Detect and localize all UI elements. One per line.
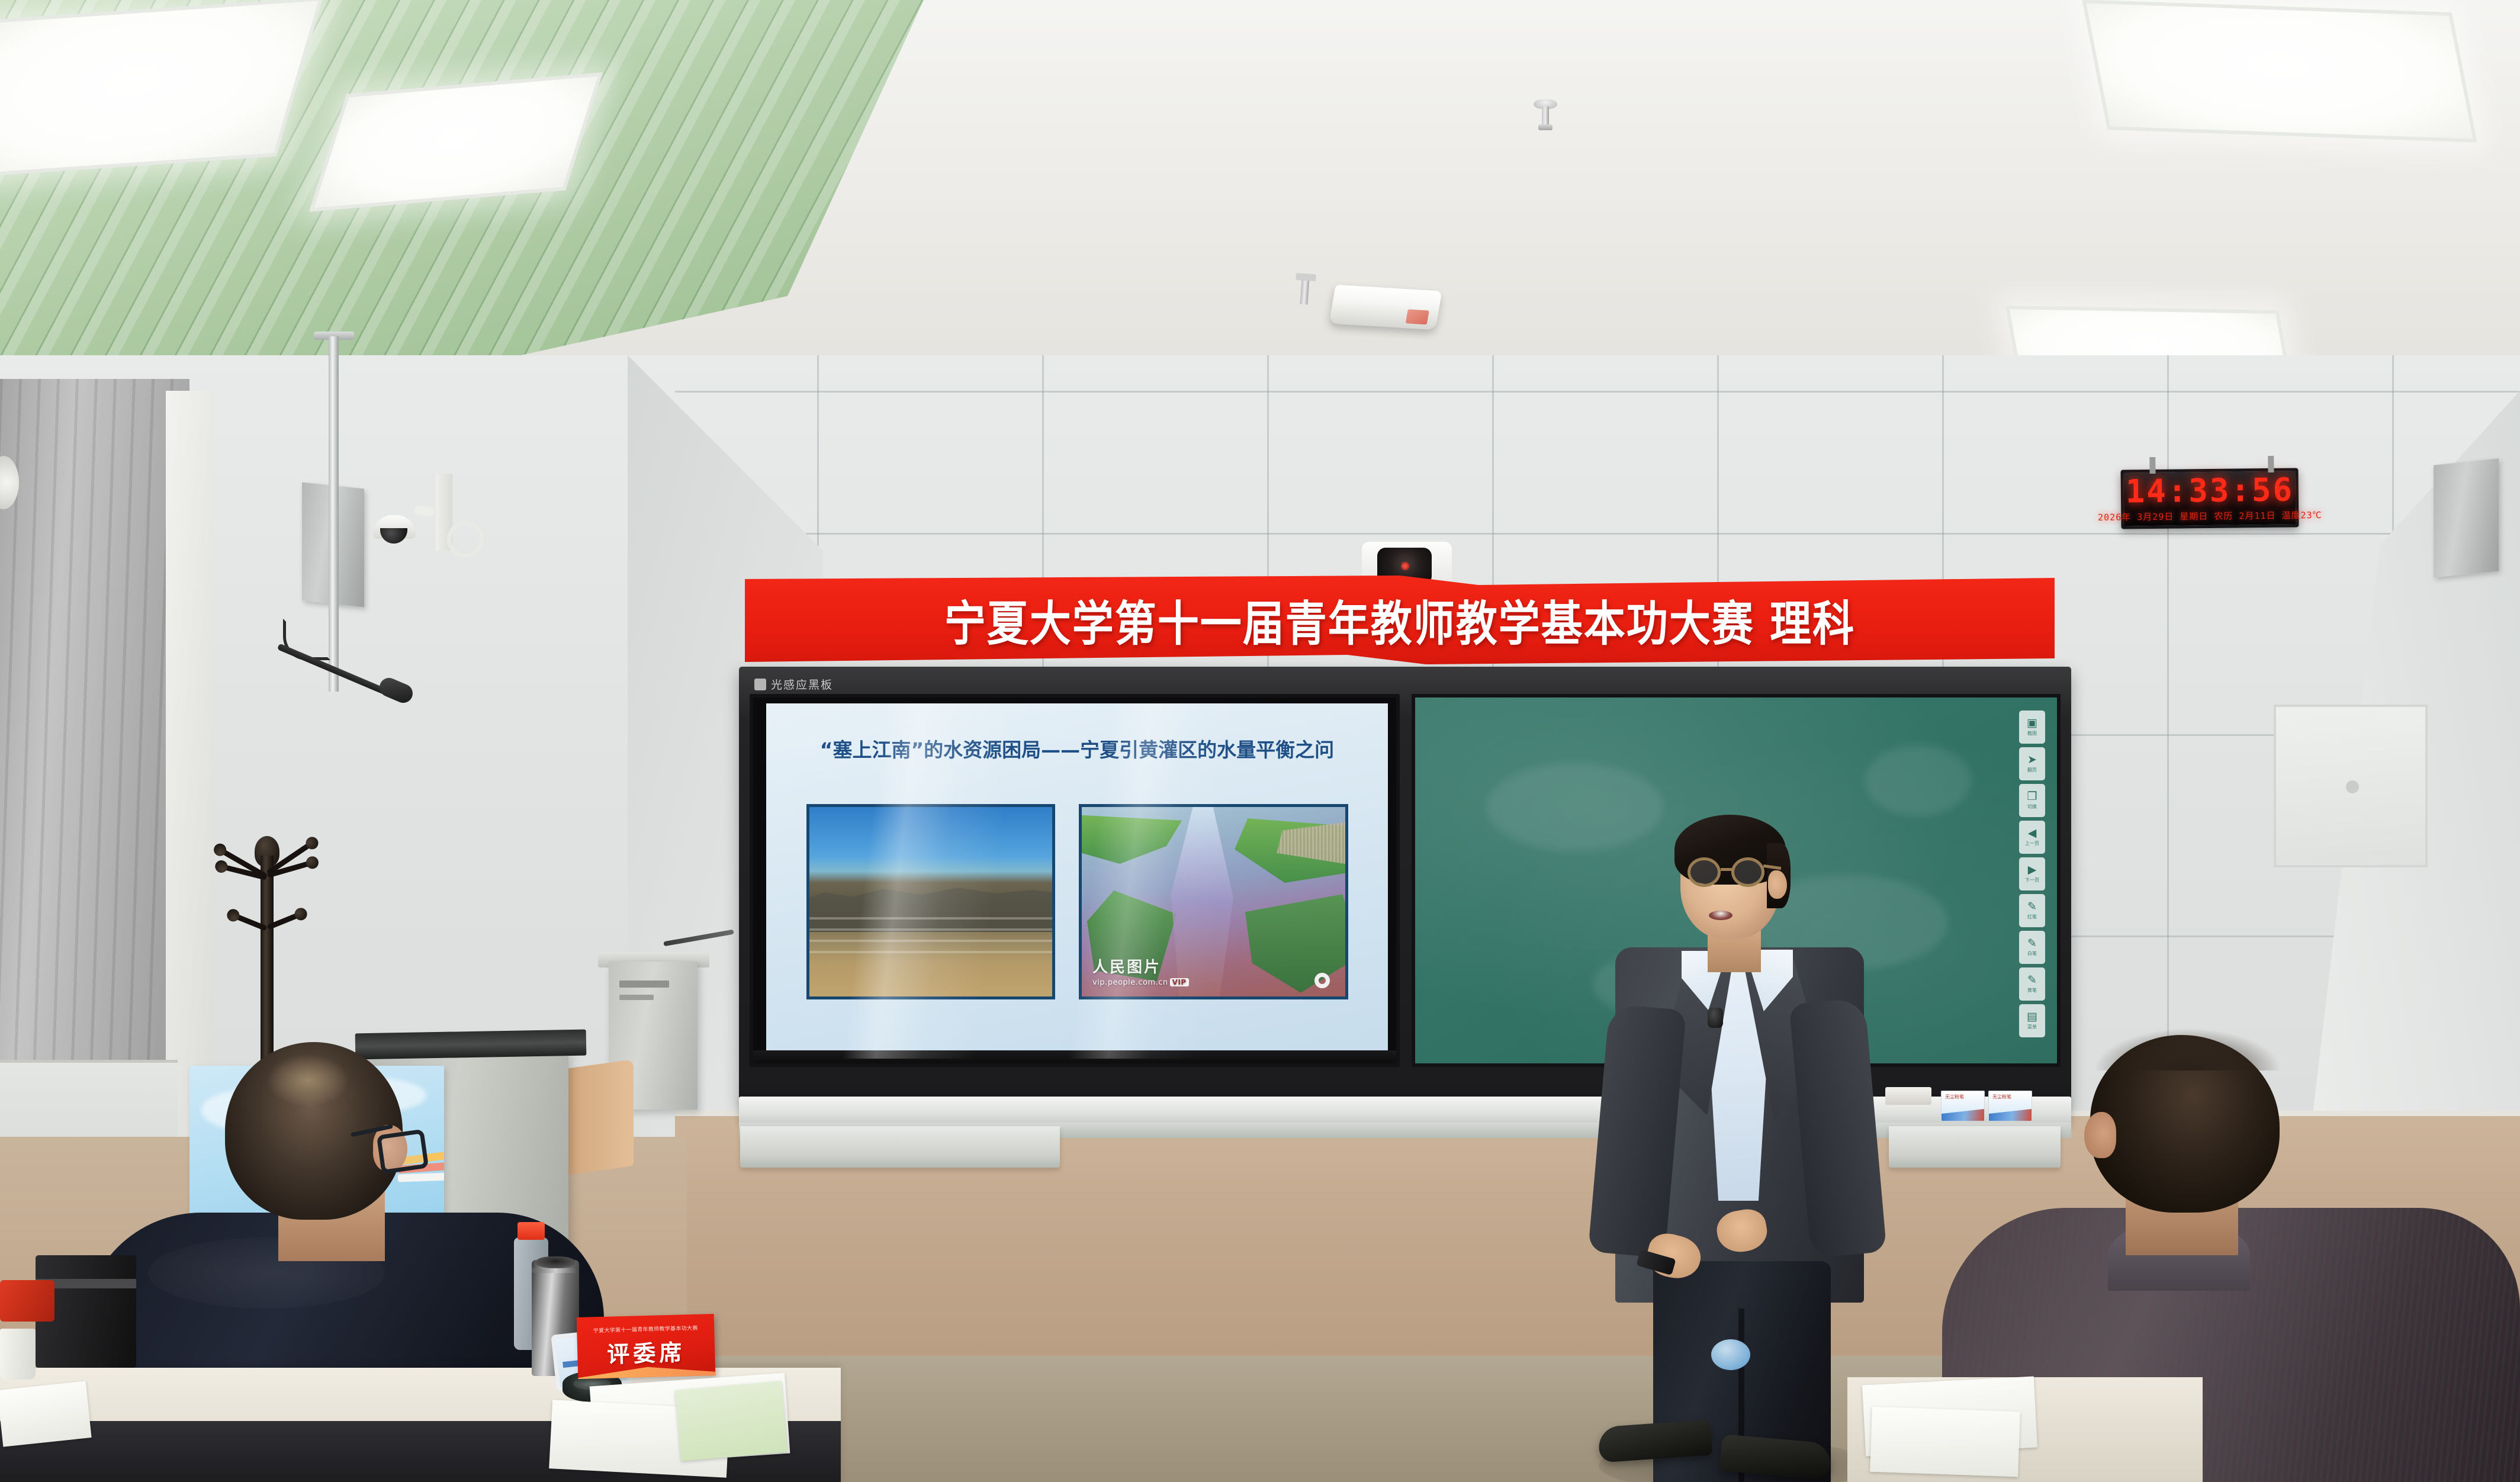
slide-title: “塞上江南”的水资源困局——宁夏引黄灌区的水量平衡之问 xyxy=(766,734,1388,763)
board-icon-label: 黄笔 xyxy=(2027,987,2037,994)
board-icon-label: 上一页 xyxy=(2025,840,2039,847)
presentation-slide[interactable]: “塞上江南”的水资源困局——宁夏引黄灌区的水量平衡之问 xyxy=(766,703,1388,1059)
ceiling-light-panel-1 xyxy=(0,0,323,179)
board-icon-label: 截图 xyxy=(2027,730,2037,737)
judge-right-paper-2[interactable] xyxy=(1870,1407,2020,1477)
window-curtain xyxy=(0,379,189,1149)
watermark-chinese: 人民图片 xyxy=(1092,955,1189,977)
presenter-mouth xyxy=(1709,911,1732,920)
white-mug[interactable] xyxy=(0,1329,36,1380)
judge-left-eyeglasses xyxy=(377,1129,429,1174)
board-eraser[interactable] xyxy=(1885,1087,1931,1105)
board-icon-glyph: ✎ xyxy=(2027,975,2037,986)
red-item-left xyxy=(0,1280,54,1322)
wall-speaker-right xyxy=(2434,458,2499,578)
chalk-box-2-label: 无尘粉笔 xyxy=(1992,1094,2011,1100)
clock-time-display: 14:33:56 xyxy=(2126,474,2294,508)
presenter-lapel-microphone xyxy=(1708,1008,1723,1028)
board-icon-label: 白笔 xyxy=(2027,950,2037,957)
board-icon-label: 翻页 xyxy=(2027,767,2037,773)
wall-seam-horizontal xyxy=(675,533,2520,535)
board-control-icon-strip[interactable]: ▣截图➤翻页❐切换◀上一页▶下一页✎红笔✎白笔✎黄笔▤菜单 xyxy=(2019,711,2045,1037)
slide-image-left xyxy=(806,804,1055,999)
board-icon-菜单[interactable]: ▤菜单 xyxy=(2019,1004,2045,1037)
judge-right-ear xyxy=(2084,1112,2116,1158)
wall-seam-horizontal xyxy=(675,391,2520,393)
wall-access-hatch xyxy=(2274,705,2428,867)
window-curtain-edge xyxy=(166,391,213,1143)
score-sheet-3[interactable] xyxy=(0,1381,92,1446)
chalk-box-1[interactable]: 无尘粉笔 xyxy=(1941,1091,1985,1121)
terrain-illustration xyxy=(809,807,1052,996)
board-icon-白笔[interactable]: ✎白笔 xyxy=(2019,931,2045,964)
board-icon-切换[interactable]: ❐切换 xyxy=(2019,784,2045,817)
interactive-flat-panel[interactable]: “塞上江南”的水资源困局——宁夏引黄灌区的水量平衡之问 xyxy=(750,694,1400,1067)
competition-banner-text: 宁夏大学第十一届青年教师教学基本功大赛 理科 xyxy=(944,586,1855,654)
board-brand-label: 光感应黑板 xyxy=(754,676,833,692)
board-icon-glyph: ▶ xyxy=(2028,864,2037,876)
nameplate-title: 评委席 xyxy=(607,1334,686,1368)
chalk-tray-left xyxy=(740,1126,1060,1168)
interactive-board-frame: 光感应黑板 “塞上江南”的水资源困局——宁夏引黄灌区的水量平衡之问 xyxy=(739,667,2071,1105)
presenter-eyeglasses xyxy=(1687,857,1775,887)
ceiling-light-panel-3 xyxy=(2082,0,2477,143)
board-icon-label: 红笔 xyxy=(2027,914,2037,920)
judge-left-hair-highlight xyxy=(266,1054,349,1107)
green-folder[interactable] xyxy=(675,1381,787,1461)
slide-image-right: 人民图片 vip.people.com.cnVIP xyxy=(1079,804,1348,999)
lectern-top-surface xyxy=(355,1030,587,1060)
board-brand-mark xyxy=(754,679,766,690)
board-icon-glyph: ❐ xyxy=(2027,791,2037,802)
board-icon-glyph: ✎ xyxy=(2027,938,2037,949)
chalk-tray-right xyxy=(1889,1126,2061,1168)
judges-nameplate: 宁夏大学第十一届青年教师教学基本功大赛 评委席 xyxy=(577,1314,716,1379)
blue-object-behind-presenter xyxy=(1711,1339,1750,1370)
board-icon-翻页[interactable]: ➤翻页 xyxy=(2019,747,2045,780)
nameplate-subtitle: 宁夏大学第十一届青年教师教学基本功大赛 xyxy=(593,1324,698,1335)
chalk-box-1-label: 无尘粉笔 xyxy=(1945,1094,1964,1100)
board-icon-glyph: ◀ xyxy=(2028,828,2037,839)
board-icon-glyph: ▣ xyxy=(2027,718,2037,729)
fire-sprinkler-icon xyxy=(1534,99,1557,134)
classroom-scene: 14:33:56 2026年 3月29日 星期日 农历 2月11日 温度23℃ … xyxy=(0,0,2520,1482)
image-watermark: 人民图片 vip.people.com.cnVIP xyxy=(1092,955,1189,987)
bottle-cap xyxy=(517,1222,545,1240)
board-icon-下一页[interactable]: ▶下一页 xyxy=(2019,857,2045,891)
digital-wall-clock: 14:33:56 2026年 3月29日 星期日 农历 2月11日 温度23℃ xyxy=(2120,468,2299,529)
board-icon-上一页[interactable]: ◀上一页 xyxy=(2019,821,2045,854)
panel-bottom-bezel xyxy=(753,1050,1396,1063)
chalk-box-2[interactable]: 无尘粉笔 xyxy=(1988,1091,2032,1121)
watermark-url: vip.people.com.cnVIP xyxy=(1092,978,1189,987)
board-icon-glyph: ▤ xyxy=(2027,1011,2037,1023)
board-icon-glyph: ✎ xyxy=(2027,901,2037,912)
board-icon-label: 切换 xyxy=(2027,803,2037,810)
dome-camera-icon xyxy=(373,515,425,549)
competition-banner: 宁夏大学第十一届青年教师教学基本功大赛 理科 xyxy=(745,576,2055,664)
ceiling-projector xyxy=(1329,285,1442,330)
board-icon-红笔[interactable]: ✎红笔 xyxy=(2019,894,2045,927)
board-icon-glyph: ➤ xyxy=(2027,754,2037,766)
board-icon-截图[interactable]: ▣截图 xyxy=(2019,711,2045,744)
board-icon-label: 下一页 xyxy=(2025,877,2039,883)
board-brand-text: 光感应黑板 xyxy=(771,676,833,692)
board-icon-label: 菜单 xyxy=(2027,1024,2037,1030)
watermark-badge: VIP xyxy=(1170,978,1189,986)
board-icon-黄笔[interactable]: ✎黄笔 xyxy=(2019,967,2045,1001)
clock-date-display: 2026年 3月29日 星期日 农历 2月11日 温度23℃ xyxy=(2098,509,2322,523)
dome-camera-ring xyxy=(447,521,484,558)
judge-right-hair xyxy=(2096,1029,2280,1070)
image-corner-marker xyxy=(1314,973,1330,988)
